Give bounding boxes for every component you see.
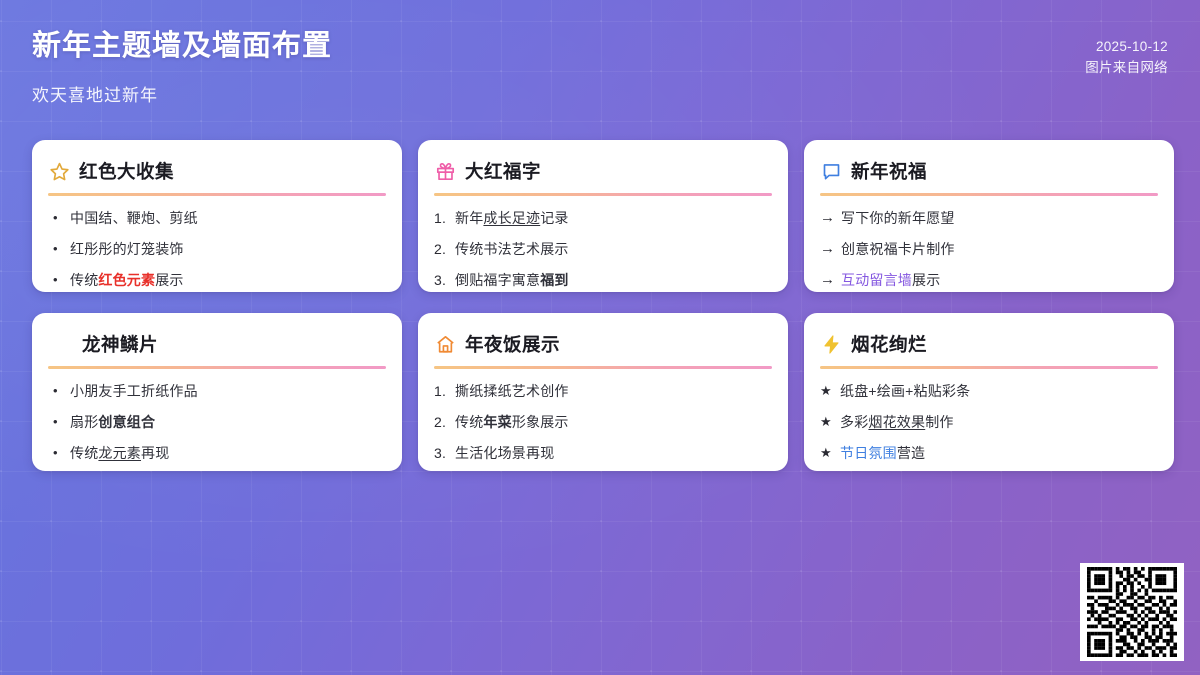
card-title: 年夜饭展示: [465, 331, 560, 357]
qr-code[interactable]: [1080, 563, 1184, 661]
card-list: 1.撕纸揉纸艺术创作2.传统年菜形象展示3.生活化场景再现: [434, 381, 772, 463]
list-item-text: 写下你的新年愿望: [841, 208, 1158, 228]
list-item[interactable]: →写下你的新年愿望: [820, 208, 1158, 228]
list-item-text: 传统年菜形象展示: [455, 412, 772, 432]
star-icon: [49, 161, 70, 182]
page-subtitle: 欢天喜地过新年: [32, 81, 158, 106]
card-accent-rule: [434, 193, 772, 196]
list-item[interactable]: •小朋友手工折纸作品: [48, 381, 386, 401]
list-item[interactable]: →互动留言墙展示: [820, 270, 1158, 290]
list-item[interactable]: →创意祝福卡片制作: [820, 239, 1158, 259]
list-item-text: 撕纸揉纸艺术创作: [455, 381, 772, 401]
list-marker: 2.: [434, 239, 455, 259]
list-marker: •: [48, 270, 70, 290]
card-header: 年夜饭展示: [434, 329, 772, 359]
list-item[interactable]: •扇形创意组合: [48, 412, 386, 432]
card-red-collection[interactable]: 红色大收集•中国结、鞭炮、剪纸•红彤彤的灯笼装饰•传统红色元素展示: [32, 140, 402, 292]
home-icon: [435, 334, 456, 355]
list-item-text: 多彩烟花效果制作: [840, 412, 1158, 432]
header-date: 2025-10-12: [1085, 36, 1168, 57]
list-item-text: 节日氛围营造: [840, 443, 1158, 463]
list-item-text: 传统龙元素再现: [70, 443, 386, 463]
list-marker: 1.: [434, 381, 455, 401]
list-item[interactable]: ★节日氛围营造: [820, 443, 1158, 463]
list-item[interactable]: 2.传统书法艺术展示: [434, 239, 772, 259]
card-accent-rule: [820, 366, 1158, 369]
list-marker: •: [48, 239, 70, 259]
card-header: 烟花绚烂: [820, 329, 1158, 359]
list-item-text: 倒贴福字寓意福到: [455, 270, 772, 290]
list-item[interactable]: 1.撕纸揉纸艺术创作: [434, 381, 772, 401]
list-item-text: 红彤彤的灯笼装饰: [70, 239, 386, 259]
list-marker: 1.: [434, 208, 455, 228]
lightning-bolt-icon: [821, 334, 842, 355]
page-header: 新年主题墙及墙面布置 欢天喜地过新年 2025-10-12 图片来自网络: [0, 0, 1200, 128]
card-header: 红色大收集: [48, 156, 386, 186]
speech-bubble-icon: [821, 161, 842, 182]
card-fireworks[interactable]: 烟花绚烂★纸盘+绘画+粘贴彩条★多彩烟花效果制作★节日氛围营造: [804, 313, 1174, 471]
list-item-text: 纸盘+绘画+粘贴彩条: [840, 381, 1158, 401]
list-item[interactable]: •传统龙元素再现: [48, 443, 386, 463]
card-dragon-scales[interactable]: 龙神鳞片•小朋友手工折纸作品•扇形创意组合•传统龙元素再现: [32, 313, 402, 471]
card-title: 大红福字: [465, 158, 541, 184]
card-accent-rule: [48, 366, 386, 369]
list-item-text: 创意祝福卡片制作: [841, 239, 1158, 259]
card-new-year-blessing[interactable]: 新年祝福→写下你的新年愿望→创意祝福卡片制作→互动留言墙展示: [804, 140, 1174, 292]
list-item-text: 扇形创意组合: [70, 412, 386, 432]
list-marker: 3.: [434, 270, 455, 290]
list-marker: ★: [820, 412, 840, 432]
list-marker: →: [820, 208, 841, 228]
list-item-text: 新年成长足迹记录: [455, 208, 772, 228]
list-item[interactable]: ★多彩烟花效果制作: [820, 412, 1158, 432]
card-title: 龙神鳞片: [82, 331, 158, 357]
card-new-year-eve-dinner[interactable]: 年夜饭展示1.撕纸揉纸艺术创作2.传统年菜形象展示3.生活化场景再现: [418, 313, 788, 471]
card-header: 龙神鳞片: [48, 329, 386, 359]
list-marker: •: [48, 443, 70, 463]
list-marker: ★: [820, 381, 840, 401]
list-item[interactable]: 2.传统年菜形象展示: [434, 412, 772, 432]
card-accent-rule: [434, 366, 772, 369]
list-marker: •: [48, 381, 70, 401]
card-title: 红色大收集: [79, 158, 174, 184]
card-list: ★纸盘+绘画+粘贴彩条★多彩烟花效果制作★节日氛围营造: [820, 381, 1158, 463]
card-big-fu-character[interactable]: 大红福字1.新年成长足迹记录2.传统书法艺术展示3.倒贴福字寓意福到: [418, 140, 788, 292]
card-accent-rule: [48, 193, 386, 196]
card-list: •中国结、鞭炮、剪纸•红彤彤的灯笼装饰•传统红色元素展示: [48, 208, 386, 290]
list-marker: ★: [820, 443, 840, 463]
header-meta: 2025-10-12 图片来自网络: [1085, 36, 1168, 78]
list-marker: •: [48, 208, 70, 228]
list-item[interactable]: ★纸盘+绘画+粘贴彩条: [820, 381, 1158, 401]
list-item[interactable]: 3.倒贴福字寓意福到: [434, 270, 772, 290]
list-marker: →: [820, 239, 841, 259]
card-list: •小朋友手工折纸作品•扇形创意组合•传统龙元素再现: [48, 381, 386, 463]
list-item-text: 生活化场景再现: [455, 443, 772, 463]
qr-code-image: [1087, 567, 1177, 657]
list-marker: •: [48, 412, 70, 432]
header-source-note: 图片来自网络: [1085, 57, 1168, 78]
list-item[interactable]: •传统红色元素展示: [48, 270, 386, 290]
list-item[interactable]: 3.生活化场景再现: [434, 443, 772, 463]
list-item-text: 传统书法艺术展示: [455, 239, 772, 259]
list-item-text: 互动留言墙展示: [841, 270, 1158, 290]
list-marker: 2.: [434, 412, 455, 432]
list-item-text: 小朋友手工折纸作品: [70, 381, 386, 401]
card-title: 烟花绚烂: [851, 331, 927, 357]
card-list: 1.新年成长足迹记录2.传统书法艺术展示3.倒贴福字寓意福到: [434, 208, 772, 290]
card-grid: 红色大收集•中国结、鞭炮、剪纸•红彤彤的灯笼装饰•传统红色元素展示大红福字1.新…: [32, 140, 1168, 471]
card-accent-rule: [820, 193, 1158, 196]
gift-icon: [435, 161, 456, 182]
list-marker: 3.: [434, 443, 455, 463]
card-list: →写下你的新年愿望→创意祝福卡片制作→互动留言墙展示: [820, 208, 1158, 290]
list-item[interactable]: 1.新年成长足迹记录: [434, 208, 772, 228]
card-title: 新年祝福: [851, 158, 927, 184]
list-marker: →: [820, 270, 841, 290]
card-header: 大红福字: [434, 156, 772, 186]
page-title: 新年主题墙及墙面布置: [32, 28, 332, 64]
card-header: 新年祝福: [820, 156, 1158, 186]
list-item-text: 中国结、鞭炮、剪纸: [70, 208, 386, 228]
list-item[interactable]: •红彤彤的灯笼装饰: [48, 239, 386, 259]
list-item[interactable]: •中国结、鞭炮、剪纸: [48, 208, 386, 228]
list-item-text: 传统红色元素展示: [70, 270, 386, 290]
